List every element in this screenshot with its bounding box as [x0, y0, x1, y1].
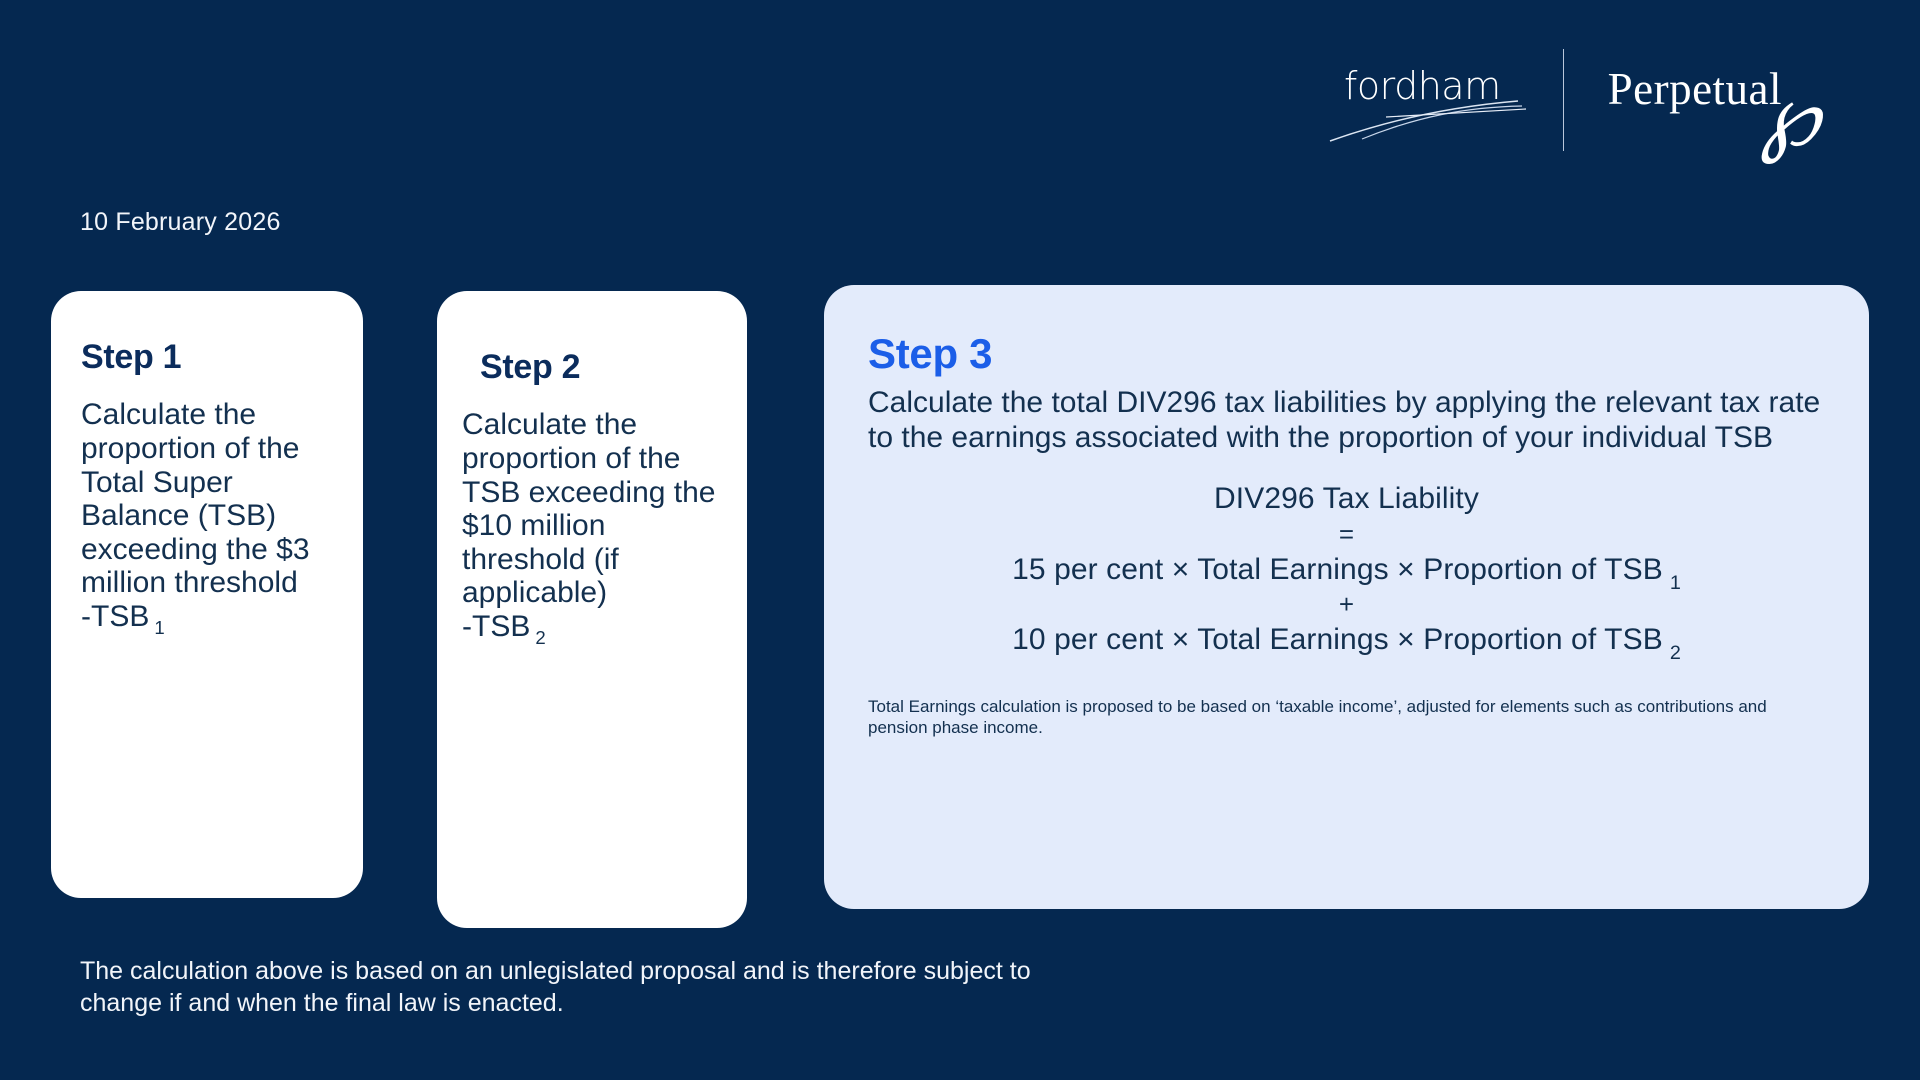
- step-2-result: -TSB: [462, 610, 530, 643]
- logo-divider: [1563, 49, 1564, 151]
- step-1-result: -TSB: [81, 600, 149, 633]
- step-1-title: Step 1: [81, 339, 333, 376]
- step-1-body-text: Calculate the proportion of the Total Su…: [81, 398, 310, 599]
- brand-logo-lockup: fordham Perpetual ℘: [1336, 40, 1816, 160]
- perpetual-logo: Perpetual ℘: [1608, 45, 1816, 155]
- step-2-card: Step 2 Calculate the proportion of the T…: [437, 291, 747, 928]
- formula-term-1-subscript: 1: [1663, 572, 1681, 594]
- fordham-wordmark: fordham: [1344, 67, 1501, 105]
- formula-heading: DIV296 Tax Liability: [868, 481, 1825, 516]
- date-label: 10 February 2026: [80, 208, 281, 237]
- step-3-card: Step 3 Calculate the total DIV296 tax li…: [824, 285, 1869, 909]
- disclaimer-text: The calculation above is based on an unl…: [80, 955, 1080, 1019]
- step-2-body-text: Calculate the proportion of the TSB exce…: [462, 408, 716, 609]
- formula-plus-sign: +: [868, 587, 1825, 622]
- step-1-result-subscript: 1: [149, 617, 164, 638]
- perpetual-wordmark: Perpetual: [1608, 67, 1782, 112]
- perpetual-flourish-icon: ℘: [1760, 73, 1820, 159]
- formula-term-2-text: 10 per cent × Total Earnings × Proportio…: [1012, 623, 1663, 656]
- step-2-result-subscript: 2: [530, 627, 545, 648]
- step-2-title: Step 2: [480, 349, 717, 386]
- step-3-body: Calculate the total DIV296 tax liabiliti…: [868, 385, 1825, 455]
- step-1-body: Calculate the proportion of the Total Su…: [81, 398, 333, 633]
- div296-formula-block: DIV296 Tax Liability = 15 per cent × Tot…: [868, 481, 1825, 657]
- fordham-logo: fordham: [1336, 45, 1527, 155]
- step-3-footnote: Total Earnings calculation is proposed t…: [868, 696, 1825, 740]
- formula-term-2: 10 per cent × Total Earnings × Proportio…: [868, 622, 1825, 657]
- formula-term-2-subscript: 2: [1663, 642, 1681, 664]
- step-2-body: Calculate the proportion of the TSB exce…: [462, 408, 717, 643]
- step-3-title: Step 3: [868, 331, 1825, 377]
- formula-term-1-text: 15 per cent × Total Earnings × Proportio…: [1012, 553, 1663, 586]
- formula-term-1: 15 per cent × Total Earnings × Proportio…: [868, 552, 1825, 587]
- formula-equals-sign: =: [868, 517, 1825, 552]
- step-1-card: Step 1 Calculate the proportion of the T…: [51, 291, 363, 898]
